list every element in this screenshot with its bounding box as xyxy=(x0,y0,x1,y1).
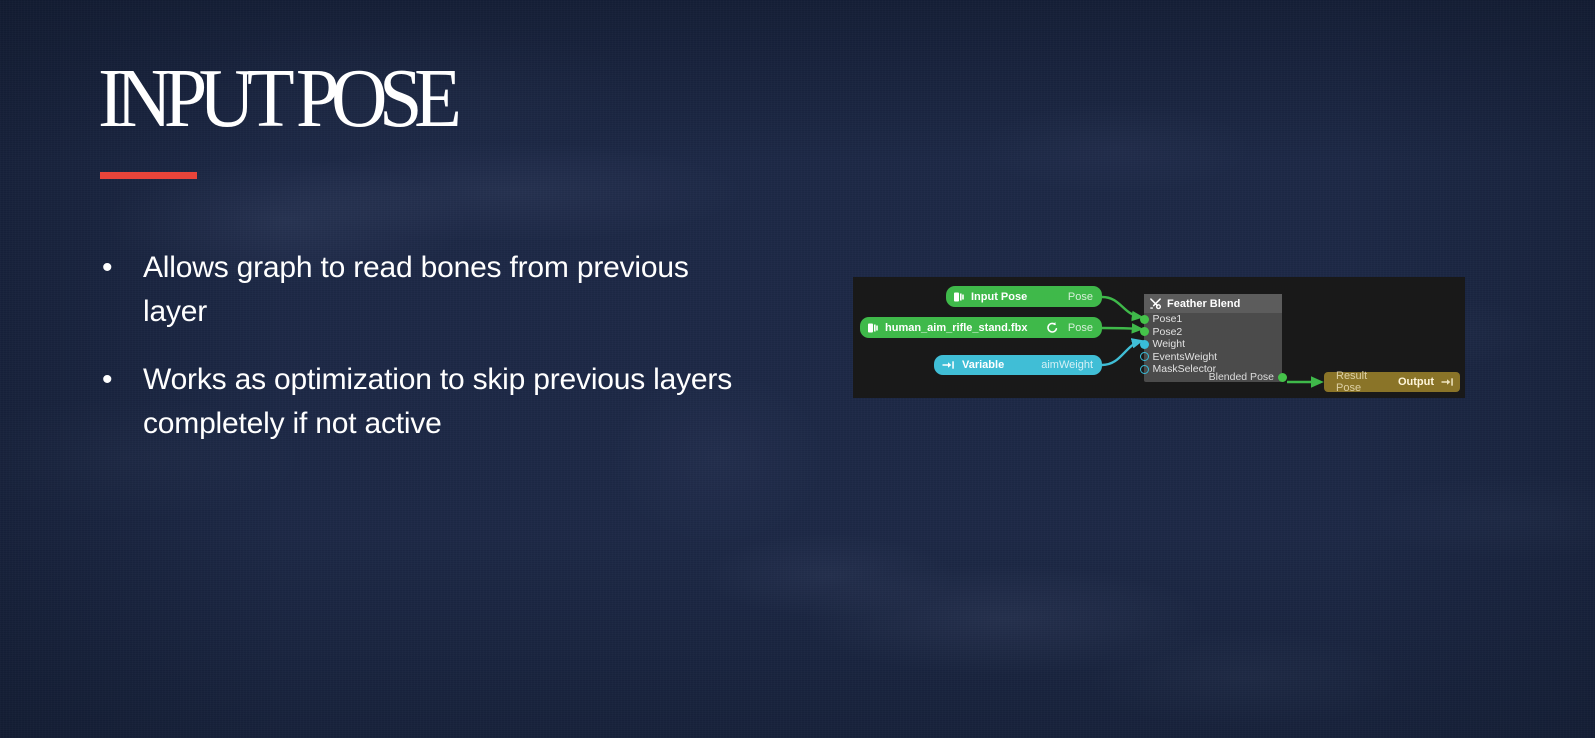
feather-input-label: EventsWeight xyxy=(1153,351,1218,363)
node-animation-clip-title: human_aim_rifle_stand.fbx xyxy=(885,322,1027,334)
feather-input-label: Weight xyxy=(1153,338,1186,350)
node-output-input-pin[interactable]: Result Pose xyxy=(1336,370,1391,394)
node-feather-blend-title: Feather Blend xyxy=(1167,298,1240,310)
feather-input-eventsweight[interactable]: EventsWeight xyxy=(1144,351,1282,364)
feather-input-label: Pose1 xyxy=(1153,313,1183,325)
node-variable[interactable]: Variable aimWeight xyxy=(934,355,1102,375)
pin-icon[interactable] xyxy=(1140,352,1149,361)
list-item: • Allows graph to read bones from previo… xyxy=(98,246,738,334)
pin-icon[interactable] xyxy=(1140,340,1149,349)
bullet-marker: • xyxy=(98,246,143,290)
loop-icon[interactable] xyxy=(1046,321,1059,334)
node-animation-clip-output-pin[interactable]: Pose xyxy=(1068,322,1093,334)
node-variable-output-pin[interactable]: aimWeight xyxy=(1041,359,1093,371)
feather-input-pose2[interactable]: Pose2 xyxy=(1144,326,1282,339)
feather-output-blended-pose[interactable]: Blended Pose xyxy=(1209,371,1287,383)
feather-input-label: MaskSelector xyxy=(1153,363,1217,375)
pin-icon[interactable] xyxy=(1140,327,1149,336)
node-output[interactable]: Result Pose Output xyxy=(1324,372,1460,392)
feather-input-pose1[interactable]: Pose1 xyxy=(1144,313,1282,326)
node-graph-panel: Input Pose Pose human_aim_rifle_stand.fb… xyxy=(853,277,1465,398)
pin-icon[interactable] xyxy=(1140,365,1149,374)
bullet-list: • Allows graph to read bones from previo… xyxy=(98,246,738,470)
feather-input-label: Pose2 xyxy=(1153,326,1183,338)
bone-icon xyxy=(867,322,879,334)
feather-input-weight[interactable]: Weight xyxy=(1144,338,1282,351)
bullet-text: Allows graph to read bones from previous… xyxy=(143,246,738,334)
list-item: • Works as optimization to skip previous… xyxy=(98,358,738,446)
node-animation-clip[interactable]: human_aim_rifle_stand.fbx Pose xyxy=(860,317,1102,338)
arrow-to-bar-icon xyxy=(942,360,955,370)
arrow-to-bar-icon xyxy=(1441,377,1454,387)
pin-icon[interactable] xyxy=(1140,315,1149,324)
node-input-pose[interactable]: Input Pose Pose xyxy=(946,286,1102,307)
title-accent-bar xyxy=(100,172,197,179)
pin-icon[interactable] xyxy=(1278,373,1287,382)
tools-icon xyxy=(1149,297,1162,310)
node-output-title: Output xyxy=(1398,376,1434,388)
feather-output-label: Blended Pose xyxy=(1209,371,1274,383)
node-feather-blend[interactable]: Feather Blend Pose1 Pose2 Weight EventsW… xyxy=(1144,294,1282,382)
node-feather-blend-header: Feather Blend xyxy=(1144,294,1282,313)
bone-icon xyxy=(953,291,965,303)
page-title: INPUT POSE xyxy=(98,55,453,143)
node-input-pose-output-pin[interactable]: Pose xyxy=(1068,291,1093,303)
node-variable-title: Variable xyxy=(962,359,1004,371)
bullet-marker: • xyxy=(98,358,143,402)
bullet-text: Works as optimization to skip previous l… xyxy=(143,358,738,446)
node-input-pose-title: Input Pose xyxy=(971,291,1027,303)
